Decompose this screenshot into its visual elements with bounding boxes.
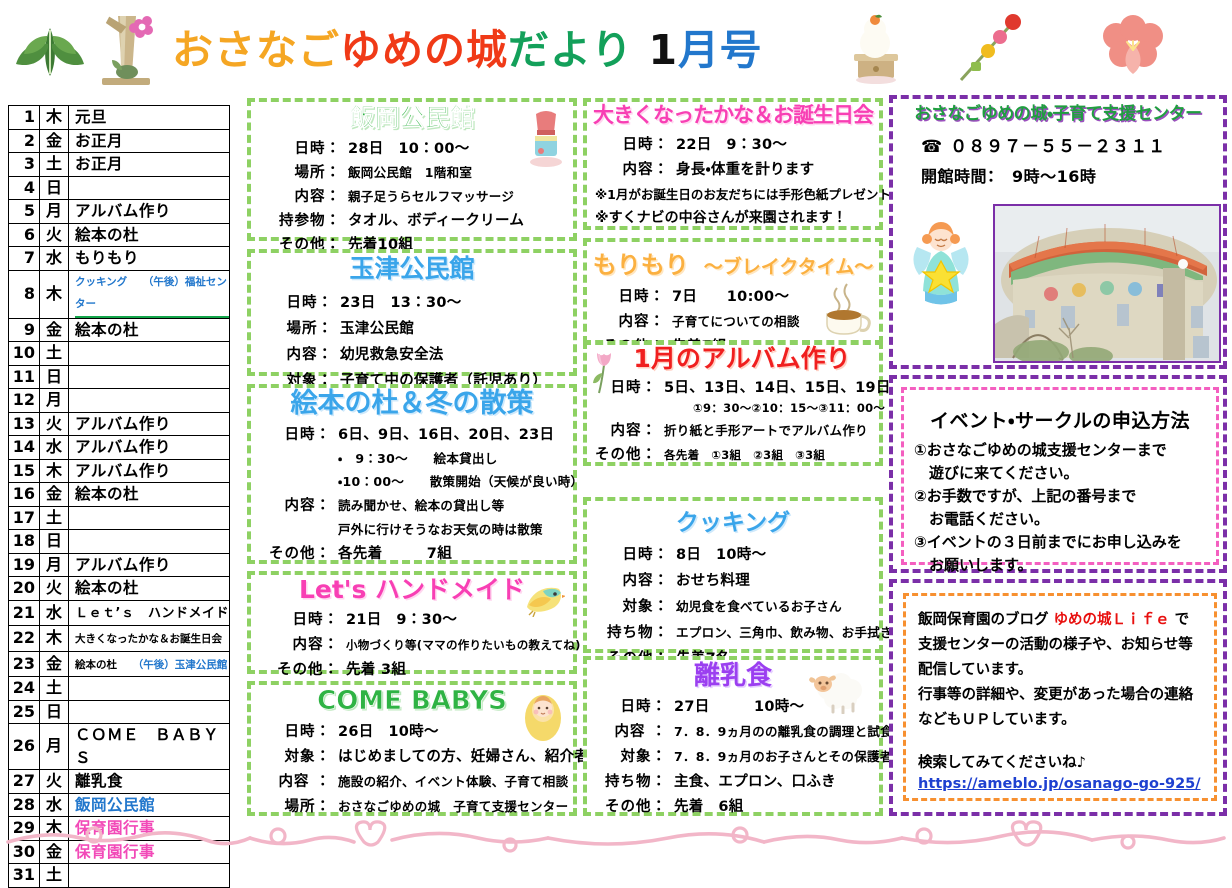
comebabys-label-0: 日時： [261, 720, 331, 741]
calendar-day-number: 11 [9, 365, 40, 389]
morimori-subtitle: ～ブレイクタイム～ [704, 256, 873, 278]
babyfood-label-1: 内容 ： [595, 720, 667, 741]
calendar-event-text: 絵本の杜 [75, 321, 139, 339]
calendar-event-text: 飯岡公民館 [75, 796, 155, 814]
calendar-weekday: 水 [40, 436, 69, 460]
calendar-day-number: 9 [9, 318, 40, 342]
comebabys-value-2: 施設の紹介、イベント体験、子育て相談 [331, 771, 568, 790]
calendar-day-number: 6 [9, 223, 40, 247]
coffee-cup-icon [821, 282, 873, 338]
calendar-event-text: 大きくなったかな＆お誕生日会 [75, 633, 222, 645]
calendar-event-text: アルバム作り [75, 462, 171, 480]
center-phone: ０８９７－５５－２３１１ [950, 137, 1166, 157]
birthday-label-0: 日時： [595, 133, 669, 154]
calendar-day-number: 14 [9, 436, 40, 460]
calendar-weekday: 金 [40, 651, 69, 677]
calendar-weekday: 日 [40, 176, 69, 200]
calendar-event: 大きくなったかな＆お誕生日会 [69, 626, 230, 652]
calendar-row: 22木大きくなったかな＆お誕生日会 [9, 626, 230, 652]
support-center-photo [993, 204, 1221, 363]
ehon-value-2: ・10：00～ 散策開始（天候が良い時） [331, 471, 583, 490]
section-blog-outer: 飯岡保育園のブログ ゆめの城Ｌｉｆｅ で 支援センターの活動の様子や、お知らせ等… [889, 579, 1227, 816]
album-value-0: 5日、13日、14日、15日、19日 [657, 376, 891, 397]
calendar-day-number: 19 [9, 553, 40, 577]
calendar-event-text: お正月 [75, 155, 123, 173]
center-title: おさなごゆめの城・子育て支援センター [893, 106, 1223, 124]
iioka-label-0: 日時： [261, 137, 341, 158]
tamatsu-value-1: 玉津公民館 [333, 317, 563, 338]
iioka-label-2: 内容： [261, 185, 341, 206]
calendar-event-text: 元旦 [75, 108, 107, 126]
calendar-weekday: 月 [40, 553, 69, 577]
iioka-label-1: 場所： [261, 161, 341, 182]
blog-line1-a: 飯岡保育園のブログ [918, 612, 1054, 628]
howto-line-1: 遊びに来てください。 [914, 462, 1216, 483]
calendar-event [69, 530, 230, 554]
calendar-event-text: アルバム作り [75, 415, 171, 433]
comebabys-value-1: はじめましての方、妊婦さん、紹介者 [331, 745, 589, 766]
title-part-1: おさなご [172, 26, 340, 74]
calendar-event: ＣＯＭＥ ＢＡＢＹＳ [69, 724, 230, 770]
calendar-row: 14水アルバム作り [9, 436, 230, 460]
calendar-day-number: 1 [9, 106, 40, 130]
calendar-day-number: 10 [9, 342, 40, 366]
calendar-day-number: 25 [9, 700, 40, 724]
kagami-mochi-icon [848, 14, 904, 84]
tamatsu-value-2: 幼児救急安全法 [333, 343, 563, 364]
ehon-label-3: 内容： [261, 494, 331, 515]
calendar-event-text: 絵本の杜 [75, 485, 139, 503]
calendar-event [69, 342, 230, 366]
handmade-value-2: 先着 3組 [339, 658, 565, 679]
sheep-icon [807, 666, 869, 714]
calendar-weekday: 日 [40, 530, 69, 554]
calendar-weekday: 土 [40, 677, 69, 701]
calendar-row: 13火アルバム作り [9, 412, 230, 436]
calendar-event [69, 506, 230, 530]
ehon-title: 絵本の杜＆冬の散策 [251, 390, 573, 418]
morimori-label-1: 内容： [599, 310, 665, 331]
calendar-event [69, 176, 230, 200]
tamatsu-label-2: 内容： [261, 343, 333, 364]
calendar-day-number: 20 [9, 577, 40, 601]
calendar-event: 絵本の杜 [69, 577, 230, 601]
swaddled-baby-icon [521, 690, 565, 742]
album-label-3: その他： [595, 443, 657, 464]
calendar-weekday: 金 [40, 483, 69, 507]
blog-line4: 行事等の詳細や、変更があった場合の連絡 [918, 683, 1214, 704]
calendar-row: 3土お正月 [9, 153, 230, 177]
section-birthday-party: 大きくなったかな＆お誕生日会 日時：22日 9：30～ 内容：身長・体重を計りま… [583, 98, 883, 230]
calendar-event [69, 864, 230, 888]
blog-url-link[interactable]: https://ameblo.jp/osanago-go-925/ [918, 776, 1201, 792]
calendar-day-number: 31 [9, 864, 40, 888]
calendar-weekday: 日 [40, 365, 69, 389]
comebabys-label-2: 内容 ： [261, 770, 331, 791]
calendar-weekday: 水 [40, 247, 69, 271]
birthday-note-0: ※1月がお誕生日のお友だちには手形色紙プレゼント [595, 184, 873, 203]
calendar-event-text-b: （午後）玉津公民館 [138, 659, 227, 671]
calendar-weekday: 木 [40, 626, 69, 652]
tulip-icon [591, 347, 617, 395]
handmade-label-2: その他： [261, 658, 339, 679]
calendar-event: 絵本の杜 [69, 318, 230, 342]
calendar-weekday: 月 [40, 200, 69, 224]
calendar-event-text: もりもり [75, 249, 139, 267]
calendar-event [69, 365, 230, 389]
ehon-value-0: 6日、9日、16日、20日、23日 [331, 423, 565, 444]
section-support-center: おさなごゆめの城・子育て支援センター ☎ ０８９７－５５－２３１１ 開館時間： … [889, 95, 1227, 369]
calendar-weekday: 木 [40, 459, 69, 483]
blog-line2: 支援センターの活動の様子や、お知らせ等 [918, 633, 1214, 654]
calendar-day-number: 4 [9, 176, 40, 200]
calendar-event [69, 677, 230, 701]
birthday-title: 大きくなったかな＆お誕生日会 [587, 104, 879, 126]
calendar-weekday: 月 [40, 724, 69, 770]
calendar-day-number: 26 [9, 724, 40, 770]
section-album-making: 1月のアルバム作り 日時：5日、13日、14日、15日、19日 ①9：30～②1… [583, 341, 883, 466]
calendar-event: アルバム作り [69, 553, 230, 577]
handmade-value-1: 小物づくり等(ママの作りたいもの教えてね) [339, 637, 581, 653]
calendar-event-text: アルバム作り [75, 438, 171, 456]
calendar-event-text: 絵本の杜 （午後）玉津公民館 [75, 659, 227, 671]
calendar-weekday: 木 [40, 270, 69, 318]
handmade-label-1: 内容： [261, 633, 339, 654]
calendar-weekday: 日 [40, 700, 69, 724]
section-come-babys: COME BABYS 日時：26日 10時～ 対象：はじめましての方、妊婦さん、… [247, 681, 577, 816]
plum-blossom-icon [1100, 14, 1166, 80]
cooking-value-0: 8日 10時～ [669, 543, 873, 564]
calendar-row: 2金お正月 [9, 129, 230, 153]
cooking-value-2: 幼児食を食べているお子さん [669, 596, 873, 615]
fairy-icon [907, 217, 975, 309]
calendar-row: 25日 [9, 700, 230, 724]
calendar-event-text: アルバム作り [75, 556, 171, 574]
ehon-label-5: その他： [261, 542, 331, 563]
calendar-weekday: 土 [40, 506, 69, 530]
calendar-event: 絵本の杜 [69, 223, 230, 247]
calendar-row: 7水もりもり [9, 247, 230, 271]
morimori-title: もりもり [593, 251, 689, 279]
calendar-day-number: 3 [9, 153, 40, 177]
calendar-day-number: 17 [9, 506, 40, 530]
calendar-row: 26月ＣＯＭＥ ＢＡＢＹＳ [9, 724, 230, 770]
calendar-day-number: 2 [9, 129, 40, 153]
calendar-day-number: 23 [9, 651, 40, 677]
calendar-row: 8木クッキング （午後）福祉センター [9, 270, 230, 318]
handmade-label-0: 日時： [261, 608, 339, 629]
calendar-event-text: アルバム作り [75, 202, 171, 220]
calendar-event: アルバム作り [69, 200, 230, 224]
calendar-row: 18日 [9, 530, 230, 554]
blog-search-word: 検索 [918, 755, 947, 771]
howto-line-2: ②お手数ですが、上記の番号まで [914, 485, 1216, 506]
calendar-event-text: 絵本の杜 [75, 579, 139, 597]
album-value-2: 折り紙と手形アートでアルバム作り [657, 420, 875, 439]
section-baby-food: 離乳食 日時：27日 10時～ 内容 ：7．8．9ヵ月のの離乳食の調理と試食 対… [583, 656, 883, 816]
babyfood-label-3: 持ち物： [595, 770, 667, 791]
calendar-row: 23金絵本の杜 （午後）玉津公民館 [9, 651, 230, 677]
center-hours: 開館時間： 9時～16時 [921, 163, 1223, 187]
ehon-value-5: 各先着 7組 [331, 542, 565, 563]
ehon-value-3: 読み聞かせ、絵本の貸出し等 [331, 495, 565, 514]
blog-search-rest: してみてくださいね♪ [947, 755, 1086, 771]
calendar-event: 離乳食 [69, 770, 230, 794]
howto-line-3: お電話ください。 [914, 508, 1216, 529]
calendar-weekday: 金 [40, 318, 69, 342]
section-morimori: もりもり ～ブレイクタイム～ 日時：7日 10:00～ 内容：子育てについての相… [583, 238, 883, 344]
calendar-row: 10土 [9, 342, 230, 366]
birthday-label-1: 内容： [595, 158, 669, 179]
babyfood-value-2: 7．8．9ヵ月のお子さんとその保護者 [667, 746, 893, 765]
leaf-icon [10, 20, 90, 80]
section-howto-apply-outer: イベント・サークルの申込方法 ①おさなごゆめの城支援センターまで 遊びに来てくだ… [889, 375, 1227, 573]
calendar-event: アルバム作り [69, 459, 230, 483]
calendar-weekday: 土 [40, 153, 69, 177]
calendar-row: 20火絵本の杜 [9, 577, 230, 601]
calendar-day-number: 21 [9, 600, 40, 626]
section-howto-apply: イベント・サークルの申込方法 ①おさなごゆめの城支援センターまで 遊びに来てくだ… [901, 387, 1219, 565]
ehon-label-0: 日時： [261, 423, 331, 444]
calendar-row: 19月アルバム作り [9, 553, 230, 577]
calendar-row: 4日 [9, 176, 230, 200]
calendar-row: 24土 [9, 677, 230, 701]
howto-line-5: お願いします。 [914, 554, 1216, 575]
massage-brush-icon [525, 106, 567, 168]
calendar-row: 31土 [9, 864, 230, 888]
album-title: 1月のアルバム作り [587, 346, 879, 372]
calendar-row: 6火絵本の杜 [9, 223, 230, 247]
calendar-row: 11日 [9, 365, 230, 389]
calendar-row: 21水Ｌｅｔ’ｓ ハンドメイド [9, 600, 230, 626]
calendar-weekday: 水 [40, 600, 69, 626]
title-part-3: だより [508, 26, 633, 74]
calendar-event: 元旦 [69, 106, 230, 130]
calendar-weekday: 月 [40, 389, 69, 413]
calendar-weekday: 土 [40, 864, 69, 888]
calendar-day-number: 8 [9, 270, 40, 318]
calendar-weekday: 土 [40, 342, 69, 366]
calendar-event: お正月 [69, 129, 230, 153]
calendar-event [69, 700, 230, 724]
calendar-event-text: 離乳食 [75, 772, 123, 790]
calendar-day-number: 13 [9, 412, 40, 436]
tamatsu-title: 玉津公民館 [251, 256, 573, 282]
babyfood-label-2: 対象： [595, 745, 667, 766]
howto-line-0: ①おさなごゆめの城支援センターまで [914, 439, 1216, 460]
birthday-note-1: ※すくナビの中谷さんが来園されます！ [595, 207, 873, 227]
tamatsu-label-0: 日時： [261, 291, 333, 312]
calendar-event: アルバム作り [69, 436, 230, 460]
calendar-weekday: 火 [40, 223, 69, 247]
calendar-event-text: 絵本の杜 [75, 226, 139, 244]
calendar-weekday: 火 [40, 577, 69, 601]
calendar-event [69, 389, 230, 413]
calendar-row: 27火離乳食 [9, 770, 230, 794]
tamatsu-label-1: 場所： [261, 317, 333, 338]
cooking-value-3: エプロン、三角巾、飲み物、お手拭き [669, 622, 893, 641]
title-part-2: ゆめの城 [340, 26, 508, 74]
birthday-value-0: 22日 9：30～ [669, 133, 873, 154]
cooking-value-1: おせち料理 [669, 569, 873, 590]
calendar-weekday: 木 [40, 106, 69, 130]
cooking-title: クッキング [587, 511, 879, 535]
calendar-event-text-a: 絵本の杜 [75, 659, 138, 671]
section-iioka-kominkan: 飯岡公民館 日時：28日 10：00～ 場所：飯岡公民館 1階和室 内容：親子足… [247, 98, 577, 241]
calendar-weekday: 火 [40, 770, 69, 794]
blog-line1-b: ゆめの城Ｌｉｆｅ [1054, 612, 1170, 628]
birthday-value-1: 身長・体重を計ります [669, 158, 873, 179]
calendar-day-number: 15 [9, 459, 40, 483]
blog-line5: などもＵＰしています。 [918, 708, 1214, 729]
calendar-weekday: 火 [40, 412, 69, 436]
calendar-row: 5月アルバム作り [9, 200, 230, 224]
iioka-value-2: 親子足うらセルフマッサージ [341, 186, 563, 205]
monthly-calendar-table: 1木元旦2金お正月3土お正月4日5月アルバム作り6火絵本の杜7水もりもり8木クッ… [8, 105, 230, 888]
calendar-day-number: 16 [9, 483, 40, 507]
calendar-event: 絵本の杜 （午後）玉津公民館 [69, 651, 230, 677]
cooking-label-1: 内容： [597, 569, 669, 590]
calendar-day-number: 24 [9, 677, 40, 701]
bird-icon [521, 581, 565, 617]
title-part-5: 月号 [678, 26, 762, 74]
calendar-weekday: 金 [40, 129, 69, 153]
calendar-day-number: 7 [9, 247, 40, 271]
bottom-decorative-wave [0, 812, 1232, 853]
calendar-day-number: 22 [9, 626, 40, 652]
phone-icon: ☎ [921, 137, 943, 157]
blog-line1-c: で [1170, 612, 1190, 628]
calendar-day-number: 18 [9, 530, 40, 554]
album-label-2: 内容： [595, 419, 657, 440]
calendar-day-number: 5 [9, 200, 40, 224]
calendar-row: 12月 [9, 389, 230, 413]
comebabys-label-1: 対象： [261, 745, 331, 766]
newsletter-page: おさなごゆめの城だより 1月号 [0, 0, 1232, 853]
calendar-row: 17土 [9, 506, 230, 530]
calendar-day-number: 27 [9, 770, 40, 794]
ehon-value-1: ・ 9：30～ 絵本貸出し [331, 448, 565, 467]
calendar-row: 15木アルバム作り [9, 459, 230, 483]
babyfood-value-3: 主食、エプロン、口ふき [667, 770, 875, 791]
cooking-label-3: 持ち物： [597, 621, 669, 642]
calendar-event: Ｌｅｔ’ｓ ハンドメイド [69, 600, 230, 626]
calendar-day-number: 12 [9, 389, 40, 413]
calendar-row: 16金絵本の杜 [9, 483, 230, 507]
page-header: おさなごゆめの城だより 1月号 [0, 0, 1232, 92]
babyfood-label-0: 日時： [595, 695, 667, 716]
section-blog: 飯岡保育園のブログ ゆめの城Ｌｉｆｅ で 支援センターの活動の様子や、お知らせ等… [903, 593, 1217, 801]
morimori-label-0: 日時： [599, 285, 665, 306]
page-title: おさなごゆめの城だより 1月号 [172, 16, 762, 76]
mochi-skewer-icon [955, 10, 1025, 84]
calendar-event: もりもり [69, 247, 230, 271]
cooking-label-0: 日時： [597, 543, 669, 564]
section-lets-handmade: Let's ハンドメイド 日時：21日 9：30～ 内容：小物づくり等(ママの作… [247, 571, 577, 674]
calendar-event-text: Ｌｅｔ’ｓ ハンドメイド [75, 606, 229, 621]
title-part-4: 1 [633, 26, 678, 74]
section-cooking: クッキング 日時：8日 10時～ 内容：おせち料理 対象：幼児食を食べているお子… [583, 497, 883, 653]
calendar-event: お正月 [69, 153, 230, 177]
album-value-1: ①9：30～②10：15～③11：00～ [657, 400, 885, 416]
calendar-event-text: ＣＯＭＥ ＢＡＢＹＳ [75, 726, 219, 767]
calendar-row: 1木元旦 [9, 106, 230, 130]
album-value-3: 各先着 ①3組 ②3組 ③3組 [657, 447, 875, 463]
calendar-event: 絵本の杜 [69, 483, 230, 507]
howto-line-4: ③イベントの３日前までにお申し込みを [914, 531, 1216, 552]
calendar-row: 9金絵本の杜 [9, 318, 230, 342]
ehon-value-4: 戸外に行けそうなお天気の時は散策 [331, 519, 565, 538]
calendar-event: クッキング （午後）福祉センター [69, 270, 230, 318]
babyfood-value-1: 7．8．9ヵ月のの離乳食の調理と試食 [667, 721, 893, 740]
section-tamatsu-kominkan: 玉津公民館 日時：23日 13：30～ 場所：玉津公民館 内容：幼児救急安全法 … [247, 249, 577, 376]
calendar-event-text: お正月 [75, 132, 123, 150]
calendar-event-text: クッキング （午後）福祉センター [75, 271, 229, 318]
section-ehon-no-mori: 絵本の杜＆冬の散策 日時：6日、9日、16日、20日、23日 ・ 9：30～ 絵… [247, 384, 577, 564]
calendar-body: 1木元旦2金お正月3土お正月4日5月アルバム作り6火絵本の杜7水もりもり8木クッ… [9, 106, 230, 888]
tamatsu-value-0: 23日 13：30～ [333, 291, 563, 312]
iioka-label-3: 持参物： [261, 209, 341, 230]
mallet-flower-icon [96, 10, 158, 88]
calendar-event: アルバム作り [69, 412, 230, 436]
iioka-value-3: タオル、ボディークリーム [341, 209, 563, 230]
blog-line3: 配信しています。 [918, 658, 1214, 679]
howto-title: イベント・サークルの申込方法 [904, 406, 1216, 433]
cooking-label-2: 対象： [597, 595, 669, 616]
